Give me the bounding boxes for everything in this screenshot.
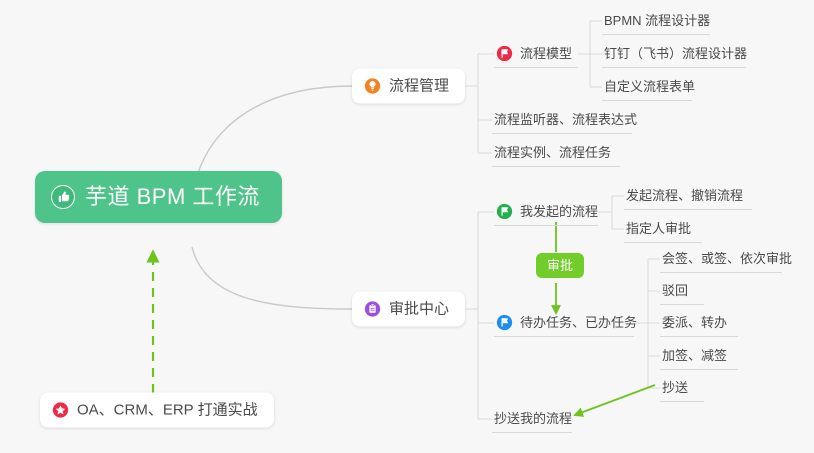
- link-root-to-approval-center: [192, 247, 352, 309]
- clipboard-icon: [364, 301, 381, 318]
- branch-approval-center[interactable]: 审批中心: [352, 292, 465, 327]
- underline-add-remove-sign: [660, 369, 738, 370]
- mindmap-canvas: 芋道 BPM 工作流 流程管理 流程模型 BPMN 流程设计器 钉钉（飞书）流: [0, 0, 814, 453]
- underline-countersign: [660, 272, 782, 273]
- flag-icon: [496, 203, 513, 220]
- node-label: 流程实例、流程任务: [494, 146, 611, 159]
- node-process-model[interactable]: 流程模型: [494, 41, 582, 67]
- node-my-initiated-flows[interactable]: 我发起的流程: [494, 199, 608, 225]
- node-add-remove-sign[interactable]: 加签、减签: [660, 345, 737, 367]
- underline-assigned-approver: [624, 242, 702, 243]
- branch-label: 流程管理: [389, 79, 449, 94]
- underline-bpmn-designer: [602, 34, 710, 35]
- node-label: 流程模型: [520, 47, 572, 60]
- approval-tag-label: 审批: [547, 258, 573, 273]
- flag-icon: [496, 45, 513, 62]
- underline-custom-form: [602, 100, 692, 101]
- node-todo-done-tasks[interactable]: 待办任务、已办任务: [494, 310, 647, 336]
- node-label: 会签、或签、依次审批: [662, 252, 792, 265]
- node-label: 委派、转办: [662, 316, 727, 329]
- node-label: 钉钉（飞书）流程设计器: [604, 47, 747, 60]
- thumbs-up-icon: [51, 185, 75, 209]
- node-label: 抄送: [662, 381, 688, 394]
- underline-process-listener: [492, 133, 632, 134]
- node-label: 驳回: [662, 284, 688, 297]
- underline-process-instance: [492, 166, 620, 167]
- node-cc[interactable]: 抄送: [660, 377, 698, 399]
- node-process-instance[interactable]: 流程实例、流程任务: [492, 142, 621, 164]
- bottom-callout-card[interactable]: OA、CRM、ERP 打通实战: [40, 393, 274, 428]
- star-icon: [52, 402, 69, 419]
- node-label: 流程监听器、流程表达式: [494, 113, 637, 126]
- node-label: 指定人审批: [626, 222, 691, 235]
- branch-process-management[interactable]: 流程管理: [352, 69, 465, 104]
- branch-label: 审批中心: [389, 302, 449, 317]
- node-label: 我发起的流程: [520, 205, 598, 218]
- node-reject[interactable]: 驳回: [660, 280, 698, 302]
- underline-start-cancel-flow: [624, 209, 752, 210]
- underline-process-model: [494, 67, 578, 68]
- underline-todo-done-tasks: [494, 336, 634, 337]
- underline-delegate-transfer: [660, 336, 738, 337]
- node-bpmn-designer[interactable]: BPMN 流程设计器: [602, 10, 720, 32]
- underline-reject: [660, 304, 704, 305]
- node-cc-to-me-flows[interactable]: 抄送我的流程: [492, 408, 582, 430]
- node-label: 自定义流程表单: [604, 80, 695, 93]
- underline-my-initiated-flows: [494, 225, 598, 226]
- node-countersign[interactable]: 会签、或签、依次审批: [660, 248, 802, 270]
- root-label: 芋道 BPM 工作流: [85, 186, 260, 208]
- node-assigned-approver[interactable]: 指定人审批: [624, 218, 701, 240]
- lightbulb-icon: [364, 78, 381, 95]
- node-dingtalk-designer[interactable]: 钉钉（飞书）流程设计器: [602, 43, 757, 65]
- underline-dingtalk-designer: [602, 67, 746, 68]
- arrow-cc-to-cc-flow: [575, 385, 655, 415]
- node-label: 抄送我的流程: [494, 412, 572, 425]
- node-label: 待办任务、已办任务: [520, 316, 637, 329]
- root-node[interactable]: 芋道 BPM 工作流: [35, 171, 282, 223]
- node-label: 加签、减签: [662, 349, 727, 362]
- bottom-callout-label: OA、CRM、ERP 打通实战: [77, 403, 258, 418]
- node-delegate-transfer[interactable]: 委派、转办: [660, 312, 737, 334]
- node-custom-form[interactable]: 自定义流程表单: [602, 76, 705, 98]
- node-process-listener[interactable]: 流程监听器、流程表达式: [492, 109, 647, 131]
- underline-cc: [660, 401, 704, 402]
- underline-cc-to-me-flows: [492, 432, 572, 433]
- node-label: BPMN 流程设计器: [604, 14, 710, 27]
- approval-tag: 审批: [536, 253, 584, 278]
- flag-icon: [496, 314, 513, 331]
- node-label: 发起流程、撤销流程: [626, 189, 743, 202]
- node-start-cancel-flow[interactable]: 发起流程、撤销流程: [624, 185, 753, 207]
